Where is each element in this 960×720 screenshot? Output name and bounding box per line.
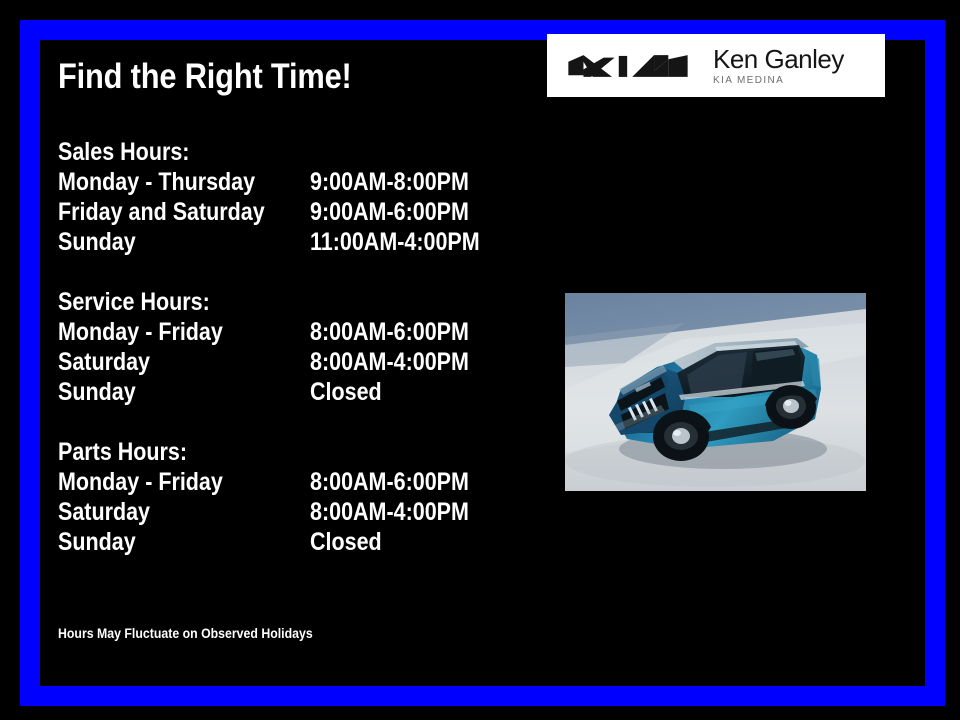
hours-row: Saturday 8:00AM-4:00PM	[58, 497, 528, 527]
kia-logo-mark	[565, 49, 691, 83]
hours-row-day: Monday - Friday	[58, 467, 275, 497]
hours-row: Monday - Friday 8:00AM-6:00PM	[58, 317, 528, 347]
dealer-sub-name: KIA MEDINA	[713, 76, 844, 86]
hours-row-day: Sunday	[58, 227, 275, 257]
section-heading: Parts Hours:	[58, 437, 462, 467]
hours-row-time: 8:00AM-6:00PM	[310, 317, 469, 347]
hours-row: Friday and Saturday 9:00AM-6:00PM	[58, 197, 528, 227]
dealership-hours-slide: Find the Right Time! Sales Hours: Monday…	[0, 0, 960, 720]
hours-row-time: 8:00AM-4:00PM	[310, 347, 469, 377]
hours-row: Sunday Closed	[58, 377, 528, 407]
hours-section-service: Service Hours: Monday - Friday 8:00AM-6:…	[58, 287, 528, 407]
hours-row-day: Saturday	[58, 497, 275, 527]
hours-row-day: Monday - Thursday	[58, 167, 275, 197]
hours-section-parts: Parts Hours: Monday - Friday 8:00AM-6:00…	[58, 437, 528, 557]
hours-row-day: Monday - Friday	[58, 317, 275, 347]
hours-row-day: Friday and Saturday	[58, 197, 275, 227]
dealer-name: Ken Ganley	[713, 46, 844, 72]
hours-row-day: Sunday	[58, 527, 275, 557]
hours-row-day: Saturday	[58, 347, 275, 377]
hours-row-time: 8:00AM-4:00PM	[310, 497, 469, 527]
holiday-disclaimer: Hours May Fluctuate on Observed Holidays	[58, 625, 313, 641]
section-heading: Service Hours:	[58, 287, 462, 317]
page-title: Find the Right Time!	[58, 57, 352, 97]
hours-row-time: 9:00AM-6:00PM	[310, 197, 469, 227]
hours-section-sales: Sales Hours: Monday - Thursday 9:00AM-8:…	[58, 137, 528, 257]
hours-row-time: 11:00AM-4:00PM	[310, 227, 480, 257]
section-heading: Sales Hours:	[58, 137, 462, 167]
hours-row: Saturday 8:00AM-4:00PM	[58, 347, 528, 377]
dealer-logo-panel: Ken Ganley KIA MEDINA	[547, 34, 885, 97]
vehicle-photo	[565, 293, 866, 491]
dealer-logo-text: Ken Ganley KIA MEDINA	[713, 46, 844, 86]
hours-list: Sales Hours: Monday - Thursday 9:00AM-8:…	[58, 137, 528, 557]
hours-row-time: 9:00AM-8:00PM	[310, 167, 469, 197]
hours-row: Monday - Friday 8:00AM-6:00PM	[58, 467, 528, 497]
hours-row-time: Closed	[310, 377, 382, 407]
hours-row: Monday - Thursday 9:00AM-8:00PM	[58, 167, 528, 197]
hours-row-time: 8:00AM-6:00PM	[310, 467, 469, 497]
hours-row: Sunday Closed	[58, 527, 528, 557]
hours-row-time: Closed	[310, 527, 382, 557]
hours-row: Sunday 11:00AM-4:00PM	[58, 227, 528, 257]
vehicle-photo-image	[565, 293, 866, 491]
hours-row-day: Sunday	[58, 377, 275, 407]
